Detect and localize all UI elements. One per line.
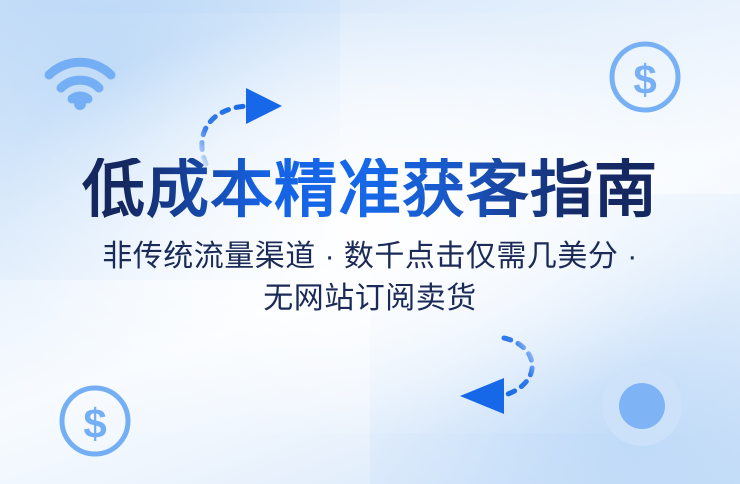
poster-subtitle-line-2: 无网站订阅卖货 [0,278,740,319]
poster-canvas: $ $ [0,0,740,484]
dollar-circle-icon-top-right: $ [606,38,684,116]
svg-text:$: $ [83,400,106,447]
poster-text-block: 低成本精准获客指南 非传统流量渠道 · 数千点击仅需几美分 · 无网站订阅卖货 [0,158,740,319]
poster-headline: 低成本精准获客指南 [0,158,740,222]
dot-circle-icon [598,362,686,450]
svg-text:$: $ [633,56,656,103]
poster-subtitle-line-1: 非传统流量渠道 · 数千点击仅需几美分 · [0,236,740,277]
wifi-icon [44,52,116,110]
dollar-circle-icon-bottom-left: $ [56,382,134,460]
dashed-curved-arrow-left-icon [446,336,556,426]
poster-subtitle: 非传统流量渠道 · 数千点击仅需几美分 · 无网站订阅卖货 [0,236,740,319]
